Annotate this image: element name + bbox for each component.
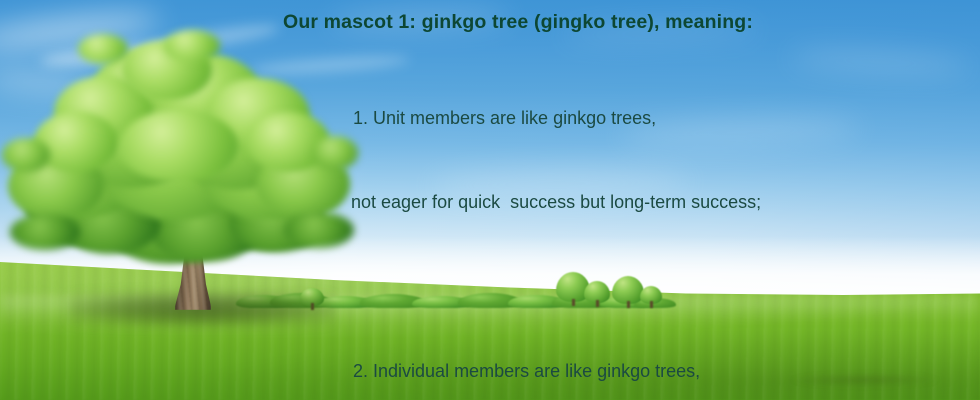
banner-body: 1. Unit members are like ginkgo trees, n… — [353, 48, 953, 400]
point-1-line-1: 1. Unit members are like ginkgo trees, — [353, 104, 953, 132]
hero-banner: Our mascot 1: ginkgo tree (gingko tree),… — [0, 0, 980, 400]
banner-title: Our mascot 1: ginkgo tree (gingko tree),… — [283, 11, 753, 34]
meaning-point-2: 2. Individual members are like ginkgo tr… — [353, 301, 953, 400]
meaning-point-1: 1. Unit members are like ginkgo trees, n… — [353, 48, 953, 272]
ginkgo-tree-illustration — [0, 0, 360, 330]
point-2-line-1: 2. Individual members are like ginkgo tr… — [353, 357, 953, 385]
tree-canopy — [0, 0, 360, 300]
point-1-line-2: not eager for quick success but long-ter… — [351, 188, 953, 216]
